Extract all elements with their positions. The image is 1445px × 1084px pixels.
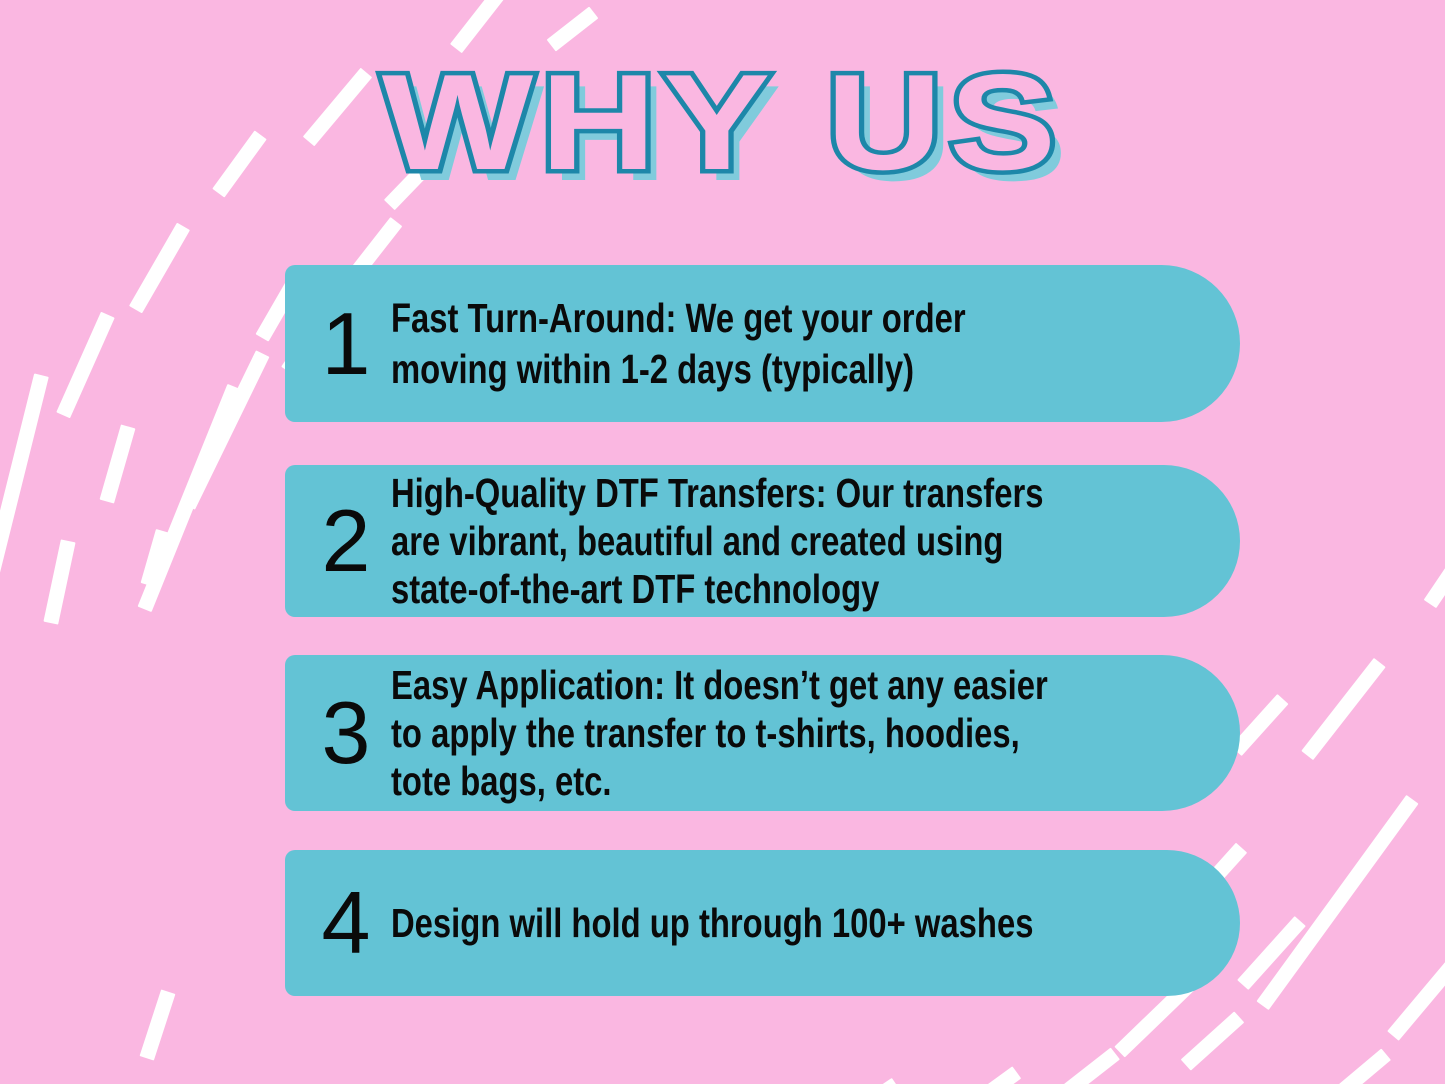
- page-title: WHY US WHY US WHY US: [0, 52, 1445, 192]
- decorative-dash: [43, 539, 75, 624]
- decorative-dash: [138, 384, 242, 612]
- decorative-dash: [547, 6, 599, 51]
- benefit-number-4: 4: [317, 879, 375, 967]
- decorative-dash: [100, 424, 136, 503]
- decorative-dash: [140, 989, 176, 1060]
- decorative-dash: [1387, 939, 1445, 1041]
- benefit-item-3: 3 Easy Application: It doesn’t get any e…: [285, 655, 1240, 811]
- decorative-dash: [1424, 542, 1445, 608]
- benefit-number-2: 2: [317, 497, 375, 585]
- decorative-dash: [1320, 1049, 1391, 1084]
- decorative-dash: [1035, 1048, 1120, 1084]
- benefit-item-1: 1 Fast Turn-Around: We get your order mo…: [285, 265, 1240, 422]
- decorative-dash: [964, 1066, 1021, 1084]
- decorative-dash: [129, 223, 190, 314]
- benefit-number-1: 1: [317, 300, 375, 388]
- benefit-item-4: 4 Design will hold up through 100+ washe…: [285, 850, 1240, 996]
- decorative-dash: [1256, 795, 1418, 1010]
- benefit-text-3: Easy Application: It doesn’t get any eas…: [391, 661, 1231, 805]
- decorative-dash: [56, 312, 114, 419]
- page-title-fill-layer: WHY US: [0, 52, 1445, 192]
- decorative-dash: [0, 373, 49, 585]
- decorative-dash: [1181, 1011, 1245, 1070]
- decorative-dash: [839, 1078, 900, 1084]
- decorative-dash: [181, 350, 269, 509]
- benefit-text-2: High-Quality DTF Transfers: Our transfer…: [391, 469, 1231, 613]
- benefit-item-2: 2 High-Quality DTF Transfers: Our transf…: [285, 465, 1240, 617]
- benefit-text-1: Fast Turn-Around: We get your order movi…: [391, 293, 1231, 395]
- poster-canvas: WHY US WHY US WHY US 1 Fast Turn-Around:…: [0, 0, 1445, 1084]
- decorative-dash: [141, 529, 171, 587]
- decorative-dash: [1237, 916, 1306, 990]
- benefit-text-4: Design will hold up through 100+ washes: [391, 899, 1231, 947]
- benefit-number-3: 3: [317, 689, 375, 777]
- decorative-dash: [1301, 658, 1385, 760]
